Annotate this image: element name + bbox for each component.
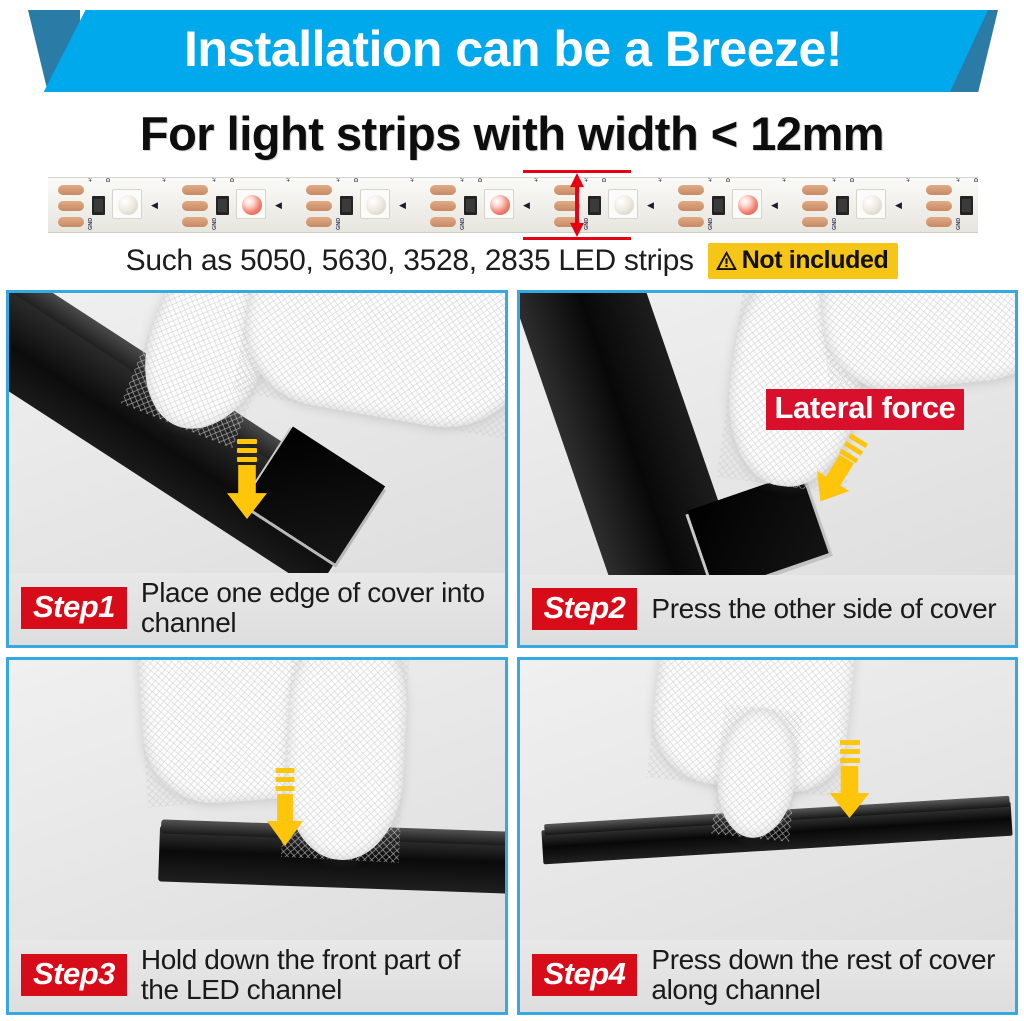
rgb-led-package [112,189,142,219]
step-panel-1[interactable]: Step1 Place one edge of cover into chann… [6,290,508,648]
silkscreen-label: +5V [832,177,838,182]
banner-title: Installation can be a Breeze! [184,20,842,78]
solder-pads [802,185,828,227]
silkscreen-label: +5V [782,177,788,182]
silkscreen-label: +5V [336,177,342,182]
solder-pads [182,185,208,227]
solder-pad [678,217,704,227]
led-strip-segment: ◀+5VDinGND+5V [792,178,916,232]
led-strip-segment: ◀+5VDinGND+5V [668,178,792,232]
step-1-caption: Step1 Place one edge of cover into chann… [9,573,505,645]
silkscreen-label: Din [106,177,112,182]
solder-pads [430,185,456,227]
gloved-finger [711,704,802,841]
silkscreen-label: Din [354,177,360,182]
silkscreen-label: +5V [906,177,912,182]
silkscreen-label: +5V [708,177,714,182]
solder-pad [926,185,952,195]
solder-pad [182,217,208,227]
steps-grid: Step1 Place one edge of cover into chann… [6,290,1018,1015]
solder-pad [306,201,332,211]
direction-arrow-icon: ◀ [895,202,906,209]
led-strip-segment: ◀+5VDinGND+5V [916,178,978,232]
driver-chip [712,196,725,215]
rgb-led-package [360,189,390,219]
lateral-force-label: Lateral force [766,389,965,430]
solder-pads [678,185,704,227]
compatible-strips-text: Such as 5050, 5630, 3528, 2835 LED strip… [126,244,694,278]
silkscreen-label: Din [726,177,732,182]
led-strip-segment: ◀+5VDinGND+5V [296,178,420,232]
step-2-caption: Step2 Press the other side of cover [520,575,1016,645]
silkscreen-label: +5V [88,177,94,182]
silkscreen-label: GND [708,218,714,230]
step-4-photo [520,660,1016,940]
solder-pad [58,201,84,211]
press-arrow-icon [267,768,303,846]
step-panel-3[interactable]: Step3 Hold down the front part of the LE… [6,657,508,1015]
step-2-text: Press the other side of cover [651,594,996,624]
not-included-label: Not included [742,246,889,275]
step-4-text: Press down the rest of cover along chann… [651,945,1005,1005]
warning-triangle-icon [715,250,738,271]
silkscreen-label: Din [478,177,484,182]
solder-pad [182,185,208,195]
silkscreen-label: GND [832,218,838,230]
solder-pad [678,185,704,195]
silkscreen-label: +5V [162,177,168,182]
press-arrow-icon [830,740,870,818]
step-2-tag: Step2 [532,588,638,630]
solder-pad [678,201,704,211]
subtitle-heading: For light strips with width < 12mm [0,106,1024,161]
compatible-strips-row: Such as 5050, 5630, 3528, 2835 LED strip… [0,243,1024,279]
step-3-photo [9,660,505,940]
solder-pad [58,185,84,195]
rgb-led-package [484,189,514,219]
led-strip-segment: ◀+5VDinGND+5V [48,178,172,232]
solder-pad [182,201,208,211]
silkscreen-label: Din [850,177,856,182]
step-4-caption: Step4 Press down the rest of cover along… [520,940,1016,1012]
gloved-hand [811,293,1015,397]
solder-pad [802,217,828,227]
solder-pad [306,217,332,227]
rgb-led-package [236,189,266,219]
led-strip-segment: ◀+5VDinGND+5V [172,178,296,232]
solder-pad [430,217,456,227]
step-3-caption: Step3 Hold down the front part of the LE… [9,940,505,1012]
driver-chip [340,196,353,215]
driver-chip [92,196,105,215]
direction-arrow-icon: ◀ [275,202,286,209]
not-included-badge: Not included [708,243,899,279]
silkscreen-label: GND [336,218,342,230]
silkscreen-label: GND [460,218,466,230]
solder-pad [58,217,84,227]
step-panel-4[interactable]: Step4 Press down the rest of cover along… [517,657,1019,1015]
silkscreen-label: +5V [460,177,466,182]
step-1-photo [9,293,505,573]
solder-pads [926,185,952,227]
silkscreen-label: +5V [286,177,292,182]
solder-pads [58,185,84,227]
step-3-tag: Step3 [21,954,127,996]
step-1-text: Place one edge of cover into channel [141,578,495,638]
step-2-photo: Lateral force [520,293,1016,575]
direction-arrow-icon: ◀ [771,202,782,209]
width-measure-marker [523,170,631,240]
driver-chip [216,196,229,215]
solder-pad [430,185,456,195]
solder-pads [306,185,332,227]
silkscreen-label: GND [956,218,962,230]
direction-arrow-icon: ◀ [399,202,410,209]
solder-pad [802,185,828,195]
silkscreen-label: +5V [956,177,962,182]
solder-pad [306,185,332,195]
rgb-led-package [732,189,762,219]
direction-arrow-icon: ◀ [647,202,658,209]
direction-arrow-icon: ◀ [151,202,162,209]
silkscreen-label: +5V [410,177,416,182]
silkscreen-label: +5V [212,177,218,182]
silkscreen-label: Din [974,177,978,182]
step-panel-2[interactable]: Lateral force Step2 Press the other side… [517,290,1019,648]
silkscreen-label: Din [230,177,236,182]
step-1-tag: Step1 [21,587,127,629]
driver-chip [464,196,477,215]
step-4-tag: Step4 [532,954,638,996]
gloved-hand [233,293,505,442]
silkscreen-label: GND [88,218,94,230]
led-strip-pcb: ◀+5VDinGND+5V◀+5VDinGND+5V◀+5VDinGND+5V◀… [48,177,978,233]
rgb-led-package [856,189,886,219]
solder-pad [926,201,952,211]
driver-chip [836,196,849,215]
silkscreen-label: +5V [658,177,664,182]
step-3-text: Hold down the front part of the LED chan… [141,945,495,1005]
solder-pad [926,217,952,227]
silkscreen-label: GND [212,218,218,230]
driver-chip [960,196,973,215]
led-strip-image: ◀+5VDinGND+5V◀+5VDinGND+5V◀+5VDinGND+5V◀… [48,177,978,233]
banner-body: Installation can be a Breeze! [38,10,988,92]
press-arrow-icon [227,439,267,519]
double-arrow-icon [570,173,584,237]
solder-pad [802,201,828,211]
header-banner: Installation can be a Breeze! [0,10,1024,92]
infographic-page: Installation can be a Breeze! For light … [0,0,1024,1021]
solder-pad [430,201,456,211]
